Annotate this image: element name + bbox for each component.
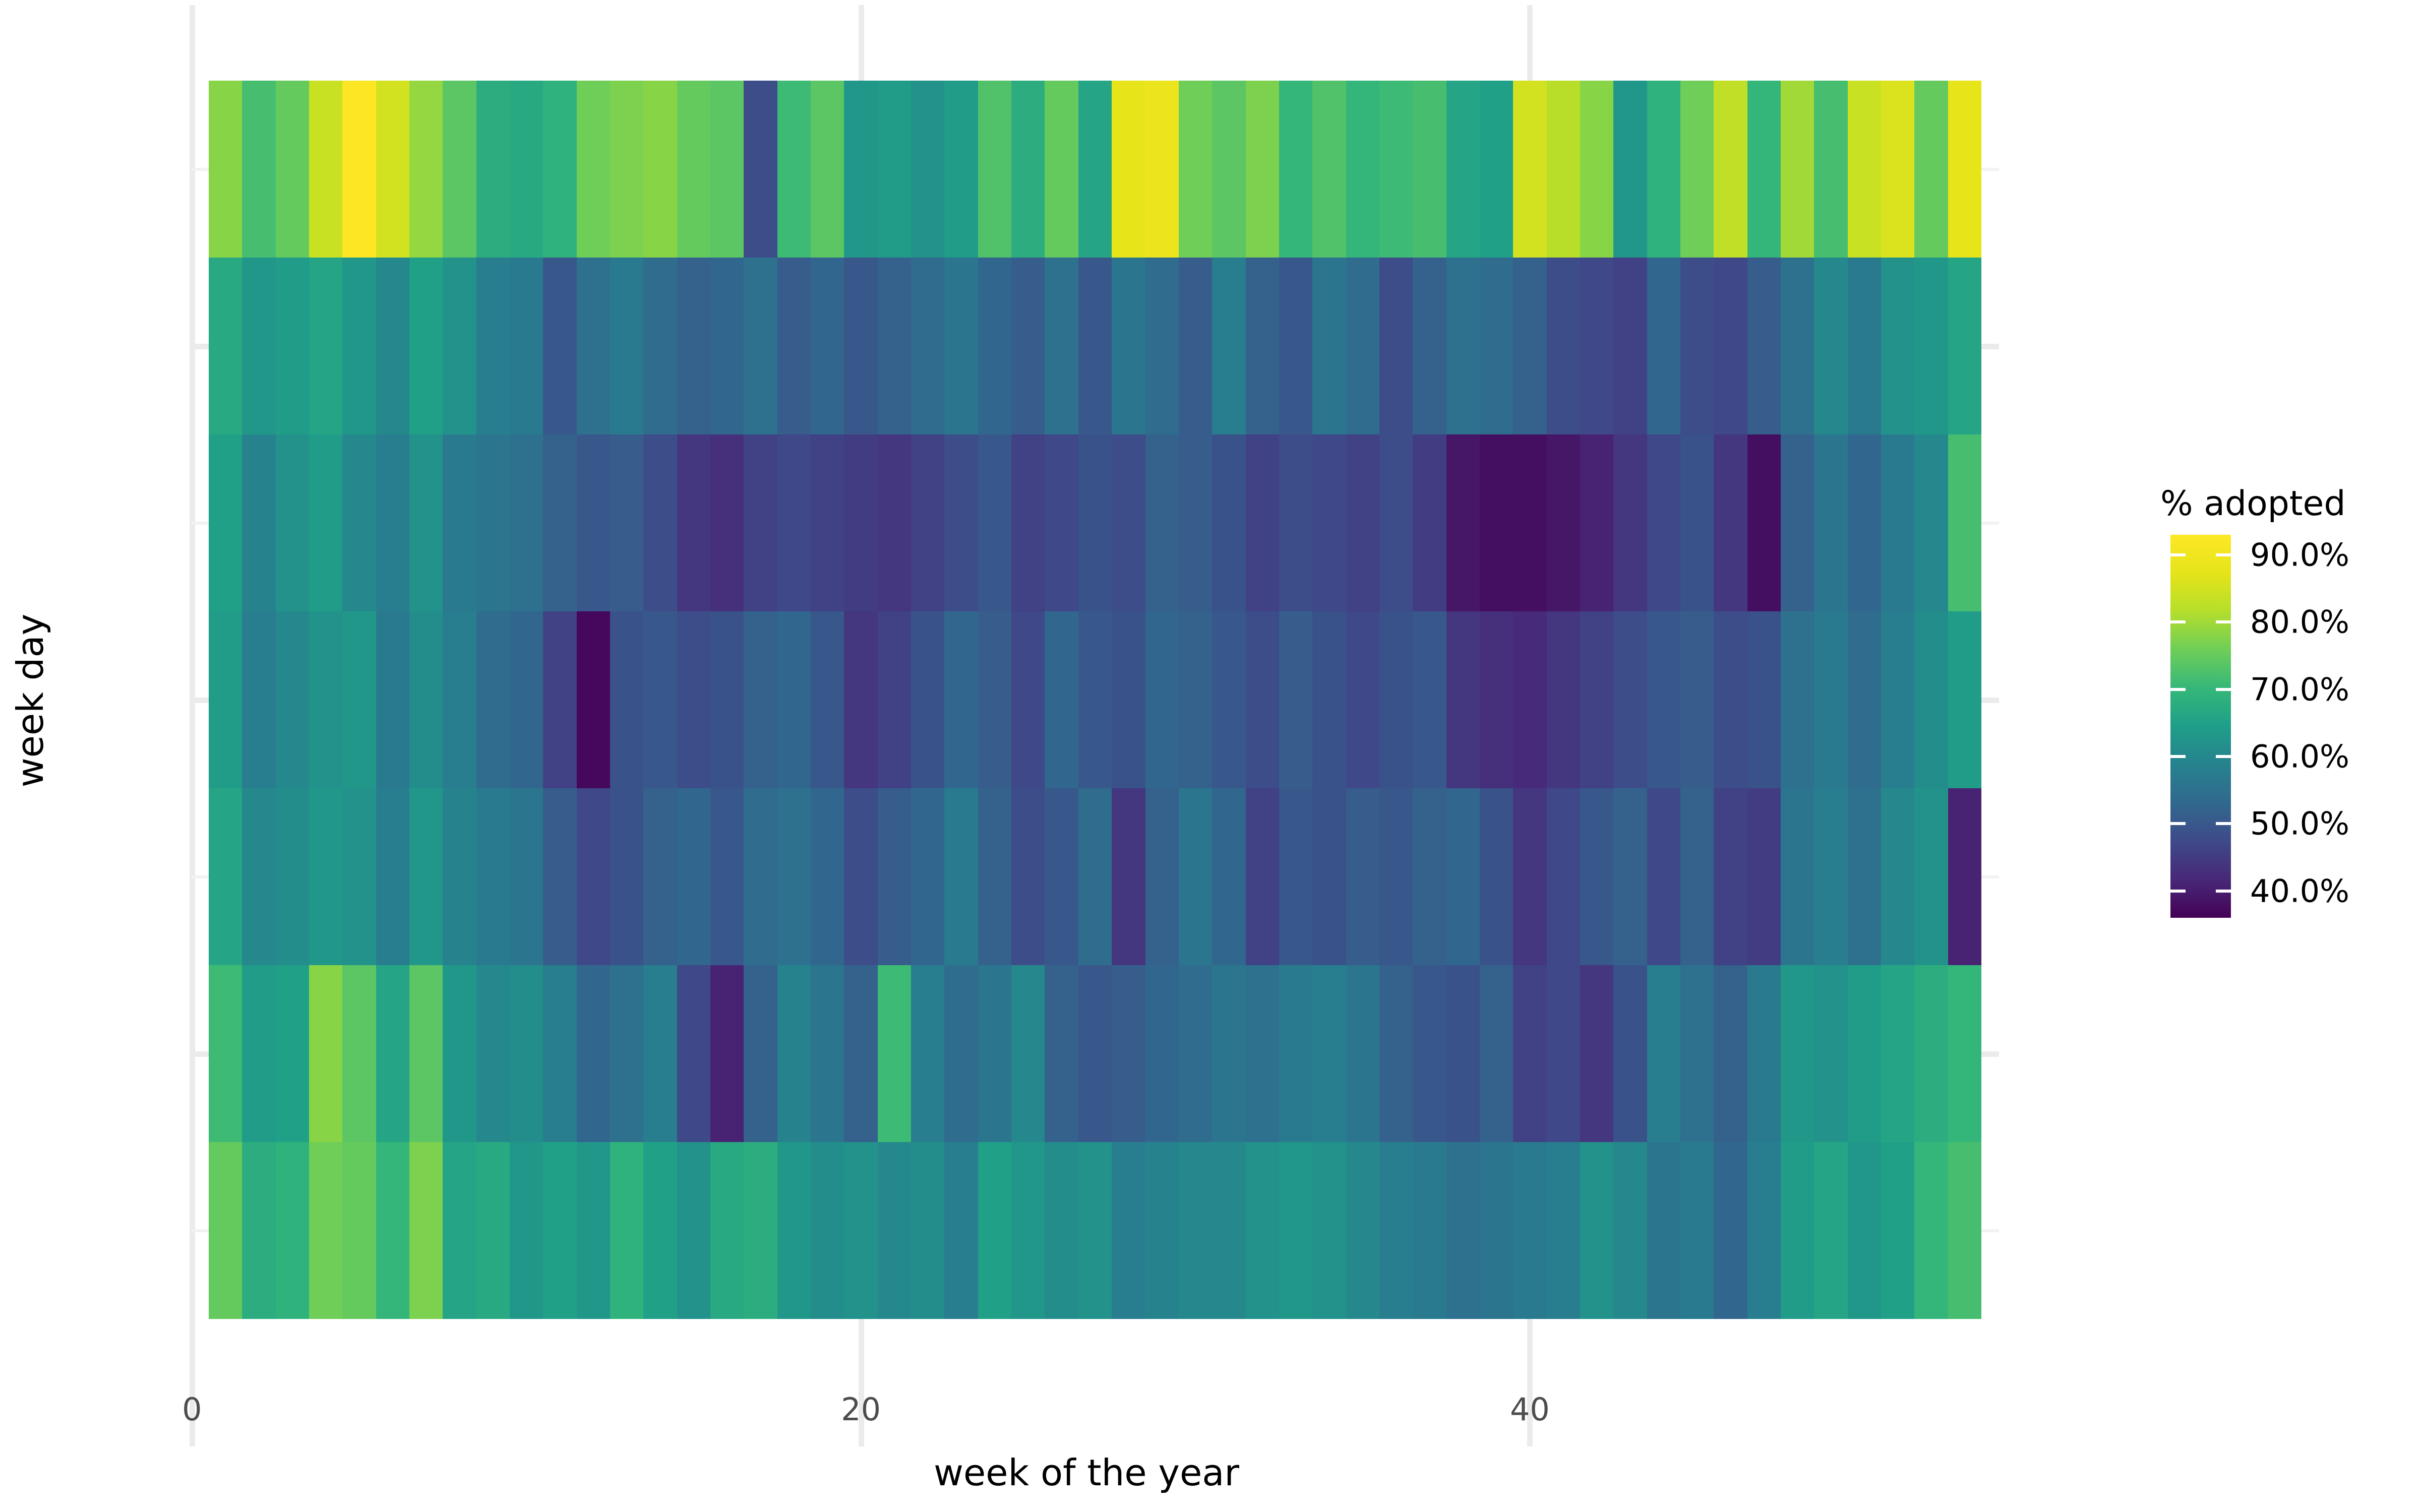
heatmap-cell [1413, 258, 1446, 434]
heatmap-cell [1613, 788, 1647, 965]
heatmap-cell [1312, 965, 1346, 1142]
heatmap-cell [1045, 434, 1078, 611]
legend-tick-label: 80.0% [2250, 604, 2349, 641]
heatmap-cell [978, 81, 1011, 258]
heatmap-cell [878, 434, 911, 611]
heatmap-cell [409, 611, 443, 788]
heatmap-cell [342, 965, 376, 1142]
heatmap-cell [1547, 1142, 1580, 1319]
heatmap-cell [844, 965, 877, 1142]
heatmap-cell [911, 1142, 944, 1319]
heatmap-cell [677, 611, 710, 788]
heatmap-cell [777, 258, 811, 434]
heatmap-cell [944, 965, 978, 1142]
heatmap-cell [844, 611, 877, 788]
heatmap-cell [409, 434, 443, 611]
heatmap-cell [1145, 788, 1179, 965]
heatmap-cell [1011, 965, 1045, 1142]
heatmap-cell [978, 434, 1011, 611]
heatmap-cell [1246, 434, 1279, 611]
heatmap-cell [1446, 611, 1480, 788]
heatmap-cell [1914, 788, 1948, 965]
heatmap-cell [409, 965, 443, 1142]
heatmap-cell [1513, 965, 1546, 1142]
heatmap-cell [309, 434, 342, 611]
heatmap-cell [811, 258, 844, 434]
heatmap-cell [844, 258, 877, 434]
heatmap-cell [1714, 788, 1747, 965]
heatmap-cell [811, 611, 844, 788]
heatmap-cell [1212, 611, 1245, 788]
heatmap-cell [1781, 81, 1814, 258]
heatmap-cell [744, 434, 777, 611]
chart-root: 02040 246 week of the year week day % ad… [0, 0, 2420, 1512]
heatmap-cell [1078, 258, 1112, 434]
heatmap-cell [1446, 434, 1480, 611]
heatmap-cell [610, 258, 643, 434]
heatmap-cell [944, 611, 978, 788]
heatmap-cell [643, 434, 677, 611]
legend-tick-label: 70.0% [2250, 671, 2349, 708]
heatmap-cell [1078, 788, 1112, 965]
heatmap-cell [376, 1142, 409, 1319]
heatmap-cell [376, 965, 409, 1142]
heatmap-cell [1781, 788, 1814, 965]
heatmap-cell [443, 965, 476, 1142]
heatmap-cell [543, 1142, 576, 1319]
heatmap-cell [1714, 434, 1747, 611]
heatmap-cell [1680, 81, 1714, 258]
legend-tick-mark [2170, 620, 2186, 623]
heatmap-cell [710, 611, 744, 788]
heatmap-cell [811, 81, 844, 258]
heatmap-cell [543, 81, 576, 258]
heatmap-cell [1045, 611, 1078, 788]
heatmap-cell [1246, 611, 1279, 788]
heatmap-cell [610, 1142, 643, 1319]
heatmap-cell [1346, 611, 1379, 788]
heatmap-cell [242, 81, 275, 258]
heatmap-cell [1547, 965, 1580, 1142]
heatmap-cell [376, 788, 409, 965]
heatmap-cell [978, 1142, 1011, 1319]
heatmap-cell [911, 81, 944, 258]
heatmap-cell [309, 81, 342, 258]
heatmap-cell [476, 258, 510, 434]
heatmap-cell [911, 965, 944, 1142]
legend-tick-mark [2170, 890, 2186, 893]
heatmap-cell [978, 788, 1011, 965]
heatmap-cell [1045, 258, 1078, 434]
heatmap-cell [1580, 434, 1613, 611]
heatmap-cell [409, 81, 443, 258]
heatmap-cell [911, 611, 944, 788]
heatmap-cell [1212, 81, 1245, 258]
heatmap-cell [443, 81, 476, 258]
heatmap-cell [844, 1142, 877, 1319]
heatmap-cell [1011, 1142, 1045, 1319]
heatmap-cell [1948, 258, 1981, 434]
heatmap-cell [1279, 258, 1312, 434]
heatmap-cell [1011, 81, 1045, 258]
heatmap-cell [1647, 611, 1680, 788]
heatmap-cell [643, 258, 677, 434]
heatmap-cell [1112, 788, 1145, 965]
heatmap-cell [1714, 258, 1747, 434]
heatmap-cell [710, 434, 744, 611]
heatmap-cell [342, 788, 376, 965]
heatmap-cell [1413, 611, 1446, 788]
heatmap-cell [1145, 258, 1179, 434]
heatmap-cell [309, 1142, 342, 1319]
heatmap-cell [1145, 611, 1179, 788]
heatmap-cell [1513, 434, 1546, 611]
heatmap-cell [1547, 611, 1580, 788]
heatmap-cell [1513, 258, 1546, 434]
heatmap-cell [1914, 611, 1948, 788]
heatmap-cell [1814, 434, 1847, 611]
heatmap-cell [1279, 434, 1312, 611]
heatmap-cell [577, 1142, 610, 1319]
heatmap-cell [543, 611, 576, 788]
heatmap-cell [844, 81, 877, 258]
heatmap-cell [1179, 1142, 1212, 1319]
legend-tick-label: 40.0% [2250, 872, 2349, 909]
legend-title: % adopted [2160, 484, 2412, 524]
heatmap-cell [1346, 434, 1379, 611]
heatmap-cell [610, 611, 643, 788]
heatmap-cell [1011, 788, 1045, 965]
heatmap-cell [1680, 611, 1714, 788]
heatmap-cell [944, 1142, 978, 1319]
heatmap-cell [811, 434, 844, 611]
heatmap-cell [1948, 434, 1981, 611]
heatmap-cell [1078, 965, 1112, 1142]
heatmap-cell [744, 788, 777, 965]
heatmap-cell [1379, 1142, 1413, 1319]
heatmap-cell [643, 81, 677, 258]
heatmap-cell [510, 788, 543, 965]
heatmap-cell [577, 434, 610, 611]
heatmap-cell [1112, 1142, 1145, 1319]
x-axis-tick-label: 40 [1510, 1391, 1550, 1428]
heatmap-cell [1547, 434, 1580, 611]
heatmap-cell [1346, 1142, 1379, 1319]
heatmap-cell [510, 611, 543, 788]
heatmap-cell [209, 258, 242, 434]
heatmap-cell [209, 788, 242, 965]
heatmap-cell [543, 258, 576, 434]
heatmap-cell [443, 788, 476, 965]
heatmap-cell [276, 434, 309, 611]
heatmap-cell [1246, 81, 1279, 258]
heatmap-cell [643, 611, 677, 788]
heatmap-cell [1747, 965, 1781, 1142]
heatmap-cell [443, 611, 476, 788]
heatmap-cell [376, 611, 409, 788]
heatmap-cell [1045, 965, 1078, 1142]
heatmap-cell [811, 965, 844, 1142]
heatmap-cell [376, 258, 409, 434]
heatmap-cell [1379, 788, 1413, 965]
heatmap-cell [677, 1142, 710, 1319]
heatmap-cell [577, 788, 610, 965]
heatmap-cell [878, 965, 911, 1142]
heatmap-cell [242, 434, 275, 611]
heatmap-cell [978, 258, 1011, 434]
heatmap-cell [1045, 788, 1078, 965]
heatmap-cell [1413, 965, 1446, 1142]
heatmap-cell [276, 965, 309, 1142]
heatmap-cell [1513, 1142, 1546, 1319]
heatmap-cell [677, 434, 710, 611]
heatmap-cell [1312, 81, 1346, 258]
heatmap-cell [276, 81, 309, 258]
heatmap-cell [1246, 788, 1279, 965]
heatmap-cell [1647, 81, 1680, 258]
heatmap-cell [1747, 1142, 1781, 1319]
heatmap-cell [1580, 1142, 1613, 1319]
heatmap-cell [1246, 965, 1279, 1142]
heatmap-cell [342, 611, 376, 788]
legend-tick-mark [2216, 688, 2231, 691]
heatmap-cell [276, 1142, 309, 1319]
heatmap-cell [1747, 611, 1781, 788]
legend-tick-mark [2170, 553, 2186, 556]
heatmap-cell [1848, 81, 1881, 258]
heatmap-cell [844, 434, 877, 611]
heatmap-cell [643, 788, 677, 965]
legend-tick-mark [2170, 755, 2186, 758]
heatmap-cell [944, 258, 978, 434]
heatmap-cell [1647, 434, 1680, 611]
heatmap-cell [1179, 258, 1212, 434]
heatmap-cell [1814, 788, 1847, 965]
heatmap-cell [1312, 434, 1346, 611]
heatmap-cell [1212, 1142, 1245, 1319]
heatmap-cell [1312, 611, 1346, 788]
heatmap-cell [1747, 258, 1781, 434]
heatmap-cell [510, 1142, 543, 1319]
heatmap-cell [744, 611, 777, 788]
heatmap-cell [209, 81, 242, 258]
heatmap-cell [1881, 81, 1914, 258]
heatmap-cell [911, 788, 944, 965]
heatmap-cell [944, 788, 978, 965]
heatmap-cell [1513, 81, 1546, 258]
heatmap-cell [777, 434, 811, 611]
heatmap-cell [309, 611, 342, 788]
heatmap-cell [1747, 788, 1781, 965]
heatmap-cell [777, 1142, 811, 1319]
heatmap-cell [1781, 965, 1814, 1142]
heatmap-cell [1613, 965, 1647, 1142]
heatmap-cell [1948, 1142, 1981, 1319]
heatmap-cell [1881, 258, 1914, 434]
heatmap-cell [744, 965, 777, 1142]
heatmap-cell [409, 788, 443, 965]
legend-tick-label: 50.0% [2250, 805, 2349, 842]
heatmap-cell [1480, 81, 1513, 258]
heatmap-cell [1781, 1142, 1814, 1319]
heatmap-cell [978, 965, 1011, 1142]
heatmap-cell [1914, 1142, 1948, 1319]
x-axis-tick-label: 20 [841, 1391, 881, 1428]
heatmap-cell [1246, 1142, 1279, 1319]
heatmap-cell [1747, 81, 1781, 258]
heatmap-cell [242, 965, 275, 1142]
heatmap-cell [342, 434, 376, 611]
heatmap-cell [1781, 611, 1814, 788]
heatmap-cell [1881, 1142, 1914, 1319]
heatmap-cell [242, 788, 275, 965]
heatmap-cell [1680, 965, 1714, 1142]
heatmap-cell [1647, 965, 1680, 1142]
heatmap-cell [643, 965, 677, 1142]
heatmap-cell [1446, 81, 1480, 258]
heatmap-cell [1179, 81, 1212, 258]
heatmap-cell [443, 1142, 476, 1319]
heatmap-cell [1112, 611, 1145, 788]
heatmap-cell [878, 258, 911, 434]
heatmap-cell [1112, 434, 1145, 611]
heatmap-cell [1948, 788, 1981, 965]
heatmap-cell [242, 1142, 275, 1319]
heatmap-cell [577, 81, 610, 258]
heatmap-cell [510, 434, 543, 611]
legend-tick-mark [2216, 822, 2231, 825]
heatmap-cell [510, 965, 543, 1142]
heatmap-cell [777, 788, 811, 965]
heatmap-cell [309, 788, 342, 965]
heatmap-cell [1747, 434, 1781, 611]
heatmap-cell [1145, 434, 1179, 611]
heatmap-cell [1379, 81, 1413, 258]
heatmap-cell [744, 258, 777, 434]
legend-tick-label: 90.0% [2250, 537, 2349, 574]
y-axis-title: week day [9, 614, 51, 788]
heatmap-cell [878, 81, 911, 258]
heatmap-cell [610, 788, 643, 965]
heatmap-cell [1547, 258, 1580, 434]
heatmap-cell [1613, 81, 1647, 258]
heatmap-cell [744, 81, 777, 258]
heatmap-cell [476, 1142, 510, 1319]
heatmap-cell [1881, 788, 1914, 965]
heatmap-cell [1312, 788, 1346, 965]
heatmap-cell [1413, 434, 1446, 611]
heatmap-cell [710, 81, 744, 258]
heatmap-cell [1179, 434, 1212, 611]
heatmap-cell [1179, 965, 1212, 1142]
heatmap-cell [276, 788, 309, 965]
heatmap-cell [1680, 258, 1714, 434]
heatmap-cell [1580, 788, 1613, 965]
heatmap-cell [878, 1142, 911, 1319]
heatmap-cell [1011, 611, 1045, 788]
x-axis-tick-label: 0 [182, 1391, 202, 1428]
legend-tick-mark [2170, 822, 2186, 825]
heatmap-cell [1480, 1142, 1513, 1319]
heatmap-cell [376, 81, 409, 258]
heatmap-cell [1814, 611, 1847, 788]
legend-tick-mark [2216, 890, 2231, 893]
heatmap-grid [209, 81, 1981, 1319]
heatmap-cell [610, 965, 643, 1142]
legend-tick-mark [2170, 688, 2186, 691]
heatmap-cell [610, 81, 643, 258]
heatmap-cell [543, 788, 576, 965]
heatmap-cell [1346, 788, 1379, 965]
heatmap-cell [710, 788, 744, 965]
heatmap-cell [1279, 611, 1312, 788]
heatmap-cell [409, 1142, 443, 1319]
heatmap-cell [1312, 258, 1346, 434]
heatmap-cell [1446, 788, 1480, 965]
heatmap-cell [1613, 434, 1647, 611]
heatmap-cell [1848, 611, 1881, 788]
heatmap-cell [1078, 611, 1112, 788]
heatmap-cell [1480, 434, 1513, 611]
heatmap-cell [209, 611, 242, 788]
heatmap-cell [1513, 611, 1546, 788]
heatmap-cell [1379, 611, 1413, 788]
heatmap-cell [844, 788, 877, 965]
heatmap-cell [510, 258, 543, 434]
heatmap-cell [777, 965, 811, 1142]
heatmap-cell [1848, 434, 1881, 611]
heatmap-cell [1814, 965, 1847, 1142]
heatmap-cell [476, 81, 510, 258]
heatmap-cell [209, 434, 242, 611]
heatmap-cell [1613, 258, 1647, 434]
heatmap-cell [978, 611, 1011, 788]
heatmap-cell [1078, 1142, 1112, 1319]
heatmap-cell [710, 258, 744, 434]
heatmap-cell [911, 434, 944, 611]
heatmap-cell [276, 258, 309, 434]
heatmap-cell [1212, 258, 1245, 434]
heatmap-cell [1814, 258, 1847, 434]
heatmap-cell [1647, 788, 1680, 965]
heatmap-cell [1379, 434, 1413, 611]
heatmap-cell [443, 434, 476, 611]
heatmap-cell [1848, 965, 1881, 1142]
heatmap-cell [510, 81, 543, 258]
heatmap-cell [744, 1142, 777, 1319]
heatmap-cell [710, 1142, 744, 1319]
heatmap-cell [1112, 965, 1145, 1142]
heatmap-cell [242, 611, 275, 788]
heatmap-cell [1714, 965, 1747, 1142]
heatmap-cell [1714, 81, 1747, 258]
heatmap-cell [376, 434, 409, 611]
heatmap-cell [1279, 1142, 1312, 1319]
heatmap-cell [1179, 788, 1212, 965]
heatmap-cell [1011, 258, 1045, 434]
heatmap-cell [1680, 434, 1714, 611]
heatmap-cell [1413, 81, 1446, 258]
legend-tick-mark [2216, 620, 2231, 623]
heatmap-cell [1212, 965, 1245, 1142]
heatmap-cell [677, 81, 710, 258]
heatmap-cell [476, 434, 510, 611]
heatmap-cell [443, 258, 476, 434]
heatmap-cell [342, 1142, 376, 1319]
heatmap-cell [1078, 81, 1112, 258]
heatmap-cell [1379, 965, 1413, 1142]
heatmap-cell [342, 258, 376, 434]
